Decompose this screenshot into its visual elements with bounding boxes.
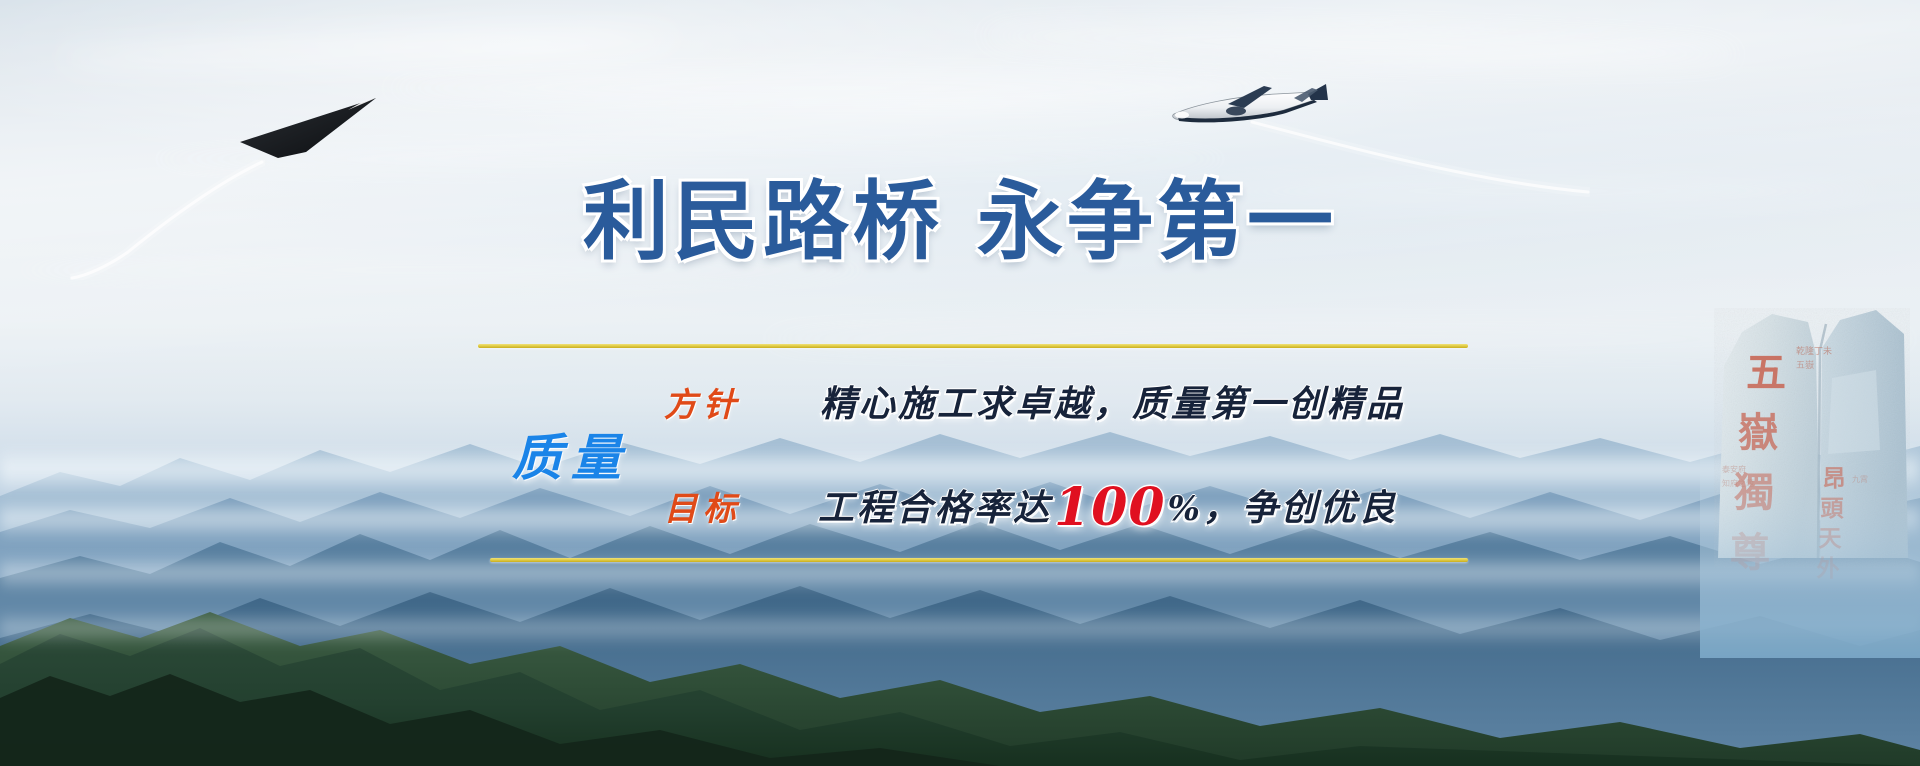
label-policy: 方针	[664, 386, 742, 424]
svg-text:五: 五	[1746, 349, 1786, 396]
svg-text:嶽: 嶽	[1738, 409, 1778, 456]
slogan-line-2-prefix: 工程合格率达	[818, 487, 1052, 529]
divider-top	[478, 344, 1468, 348]
airplane-icon	[1168, 84, 1328, 140]
cloud-streak	[980, 20, 1741, 70]
mountain-range	[0, 346, 1920, 766]
label-target: 目标	[664, 490, 742, 528]
svg-text:泰安府: 泰安府	[1722, 464, 1746, 474]
svg-text:尊: 尊	[1730, 529, 1770, 576]
cloud-mist	[0, 448, 1920, 494]
svg-text:九霄: 九霄	[1852, 475, 1868, 484]
divider-bottom	[490, 558, 1468, 562]
svg-text:知府之題: 知府之題	[1722, 478, 1754, 488]
cloud-mist	[0, 500, 1920, 540]
cloud-streak	[380, 78, 1280, 98]
percent-sign: %	[1168, 489, 1203, 529]
paper-plane-icon	[228, 96, 378, 174]
svg-text:獨: 獨	[1734, 469, 1774, 516]
slogan-line-2: 工程合格率达100%，争创优良	[818, 486, 1398, 531]
cloud-mist	[0, 612, 1920, 646]
pass-rate-value: 100	[1052, 477, 1168, 538]
svg-text:頭: 頭	[1821, 495, 1845, 522]
svg-text:乾隆丁未: 乾隆丁未	[1796, 345, 1832, 357]
svg-text:昂: 昂	[1823, 465, 1846, 492]
svg-text:五嶽: 五嶽	[1796, 360, 1814, 371]
slogan-line-2-suffix: ，争创优良	[1203, 487, 1398, 529]
keyword-quality: 质量	[512, 430, 630, 486]
svg-text:天: 天	[1819, 525, 1843, 552]
svg-text:外: 外	[1817, 555, 1840, 582]
slogan-line-1: 精心施工求卓越，质量第一创精品	[820, 382, 1405, 426]
page-title: 利民路桥 永争第一	[0, 176, 1920, 268]
hero-banner: 五 嶽 獨 尊 昂 頭 天 外 乾隆丁未 五嶽 泰安府 知府之題 九霄 利民路桥…	[0, 0, 1920, 766]
stone-monument: 五 嶽 獨 尊 昂 頭 天 外 乾隆丁未 五嶽 泰安府 知府之題 九霄	[1700, 258, 1920, 658]
cloud-streak	[60, 25, 681, 73]
